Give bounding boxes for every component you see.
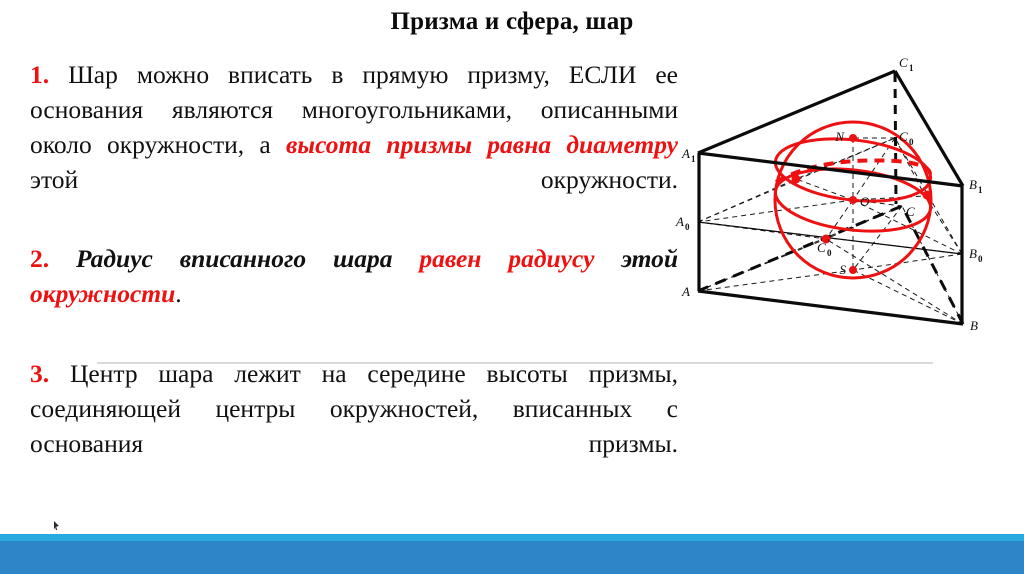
statement-paragraph-2: 2. Радиус вписанного шара равен радиусу … [30,241,678,346]
statement-3-number-dot: . [43,359,70,388]
statement-paragraph-3: 3. Центр шара лежит на середине высоты п… [30,356,678,496]
figure-label-A0: A [675,214,684,229]
figure-label-C0: C [899,129,908,144]
point-marker-O [849,196,857,204]
figure-label-C0-prime-mark: ' [827,238,830,248]
page-title: Призма и сфера, шар [0,8,1024,36]
slide-canvas: Призма и сфера, шар 1. Шар можно вписать… [0,0,1024,574]
statement-1-number: 1 [30,60,43,89]
figure-label-C0-prime: C [817,240,826,255]
figure-label-B1: B [969,177,977,192]
figure-label-A0-subscript: 0 [685,222,690,232]
mouse-cursor-artifact [54,521,59,530]
figure-label-C1: C [899,55,908,70]
point-marker-right-tangent [923,191,932,200]
figure-label-B1-subscript: 1 [978,185,983,195]
statement-2-segment-a: Радиус вписанного шара [76,244,419,273]
statement-2-number: 2 [30,244,43,273]
edge-A-B [698,291,963,324]
statement-2-segment-e: . [175,279,181,308]
figure-label-A1: A [681,146,690,161]
statement-3-text: Центр шара лежит на середине высоты приз… [30,359,678,458]
figure-label-B0-subscript: 0 [978,254,983,264]
figure-label-S: S [840,262,847,277]
section-divider [97,362,933,364]
statement-1-highlight: высота призмы равна диаметру [286,130,678,159]
figure-label-B0: B [969,246,977,261]
footer-accent-stripe [0,534,1024,541]
figure-label-A1-subscript: 1 [691,154,696,164]
dash-A-C [698,206,902,291]
figure-label-C: C [906,204,915,219]
statement-2-highlight-2: окружности [30,279,175,308]
geometry-figure: A 1 C 1 B 1 A 0 B 0 A B C 0 C N O C 0 [668,40,1024,350]
figure-label-O: O [860,194,870,209]
statement-3-number: 3 [30,359,43,388]
statement-1-number-dot: . [43,60,68,89]
dash-A0-left-top [698,179,796,222]
point-marker-N [849,134,857,142]
statement-1-segment-c: этой окружности. [30,165,678,194]
point-marker-left-tangent [792,175,801,184]
text-content-column: 1. Шар можно вписать в прямую призму, ЕС… [30,57,678,498]
statement-2-segment-c: этой [594,244,678,273]
figure-label-C0-subscript: 0 [909,137,914,147]
statement-paragraph-1: 1. Шар можно вписать в прямую призму, ЕС… [30,57,678,232]
figure-label-C1-subscript: 1 [909,63,914,73]
statement-2-number-dot: . [43,244,76,273]
figure-label-A: A [681,284,690,299]
figure-label-C0-prime-subscript: 0 [827,248,832,258]
figure-label-N: N [834,129,845,144]
hidden-edge-C-C1 [895,73,896,204]
statement-2-highlight-1: равен радиусу [419,244,594,273]
figure-label-B: B [970,318,978,333]
footer-bar [0,541,1024,574]
point-marker-S [849,266,857,274]
